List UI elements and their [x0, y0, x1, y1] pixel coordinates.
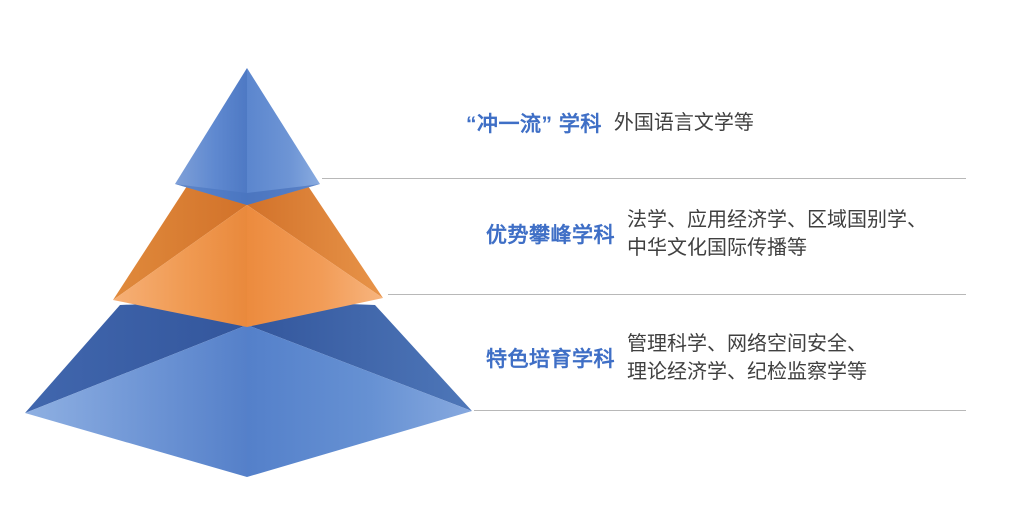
pyramid-tier-top[interactable]: [175, 68, 320, 205]
leader-line-tier-top: [322, 178, 966, 179]
tier-description-bottom: 管理科学、网络空间安全、 理论经济学、纪检监察学等: [627, 330, 867, 387]
tier-description-middle-line-2: 中华文化国际传播等: [627, 234, 927, 262]
tier-description-middle: 法学、应用经济学、区域国别学、 中华文化国际传播等: [627, 206, 927, 263]
tier-description-bottom-line-1: 管理科学、网络空间安全、: [627, 330, 867, 358]
tier-label-top: “冲一流” 学科: [466, 108, 602, 138]
tier-label-middle: 优势攀峰学科: [486, 219, 615, 249]
tier-text-row-middle: 优势攀峰学科 法学、应用经济学、区域国别学、 中华文化国际传播等: [486, 206, 927, 263]
tier-text-row-bottom: 特色培育学科 管理科学、网络空间安全、 理论经济学、纪检监察学等: [486, 330, 867, 387]
pyramid-diagram: [0, 0, 520, 508]
tier-description-bottom-line-2: 理论经济学、纪检监察学等: [627, 358, 867, 386]
pyramid-tier-top-face-left: [175, 68, 247, 205]
tier-label-bottom: 特色培育学科: [486, 343, 615, 373]
tier-description-middle-line-1: 法学、应用经济学、区域国别学、: [627, 206, 927, 234]
leader-line-tier-bottom: [474, 410, 966, 411]
pyramid-infographic: “冲一流” 学科 外国语言文学等 优势攀峰学科 法学、应用经济学、区域国别学、 …: [0, 0, 1024, 508]
tier-description-top-line-1: 外国语言文学等: [614, 109, 754, 137]
tier-text-row-top: “冲一流” 学科 外国语言文学等: [466, 108, 754, 138]
leader-line-tier-middle: [388, 294, 966, 295]
pyramid-tier-top-face-right: [247, 68, 320, 205]
tier-description-top: 外国语言文学等: [614, 109, 754, 137]
